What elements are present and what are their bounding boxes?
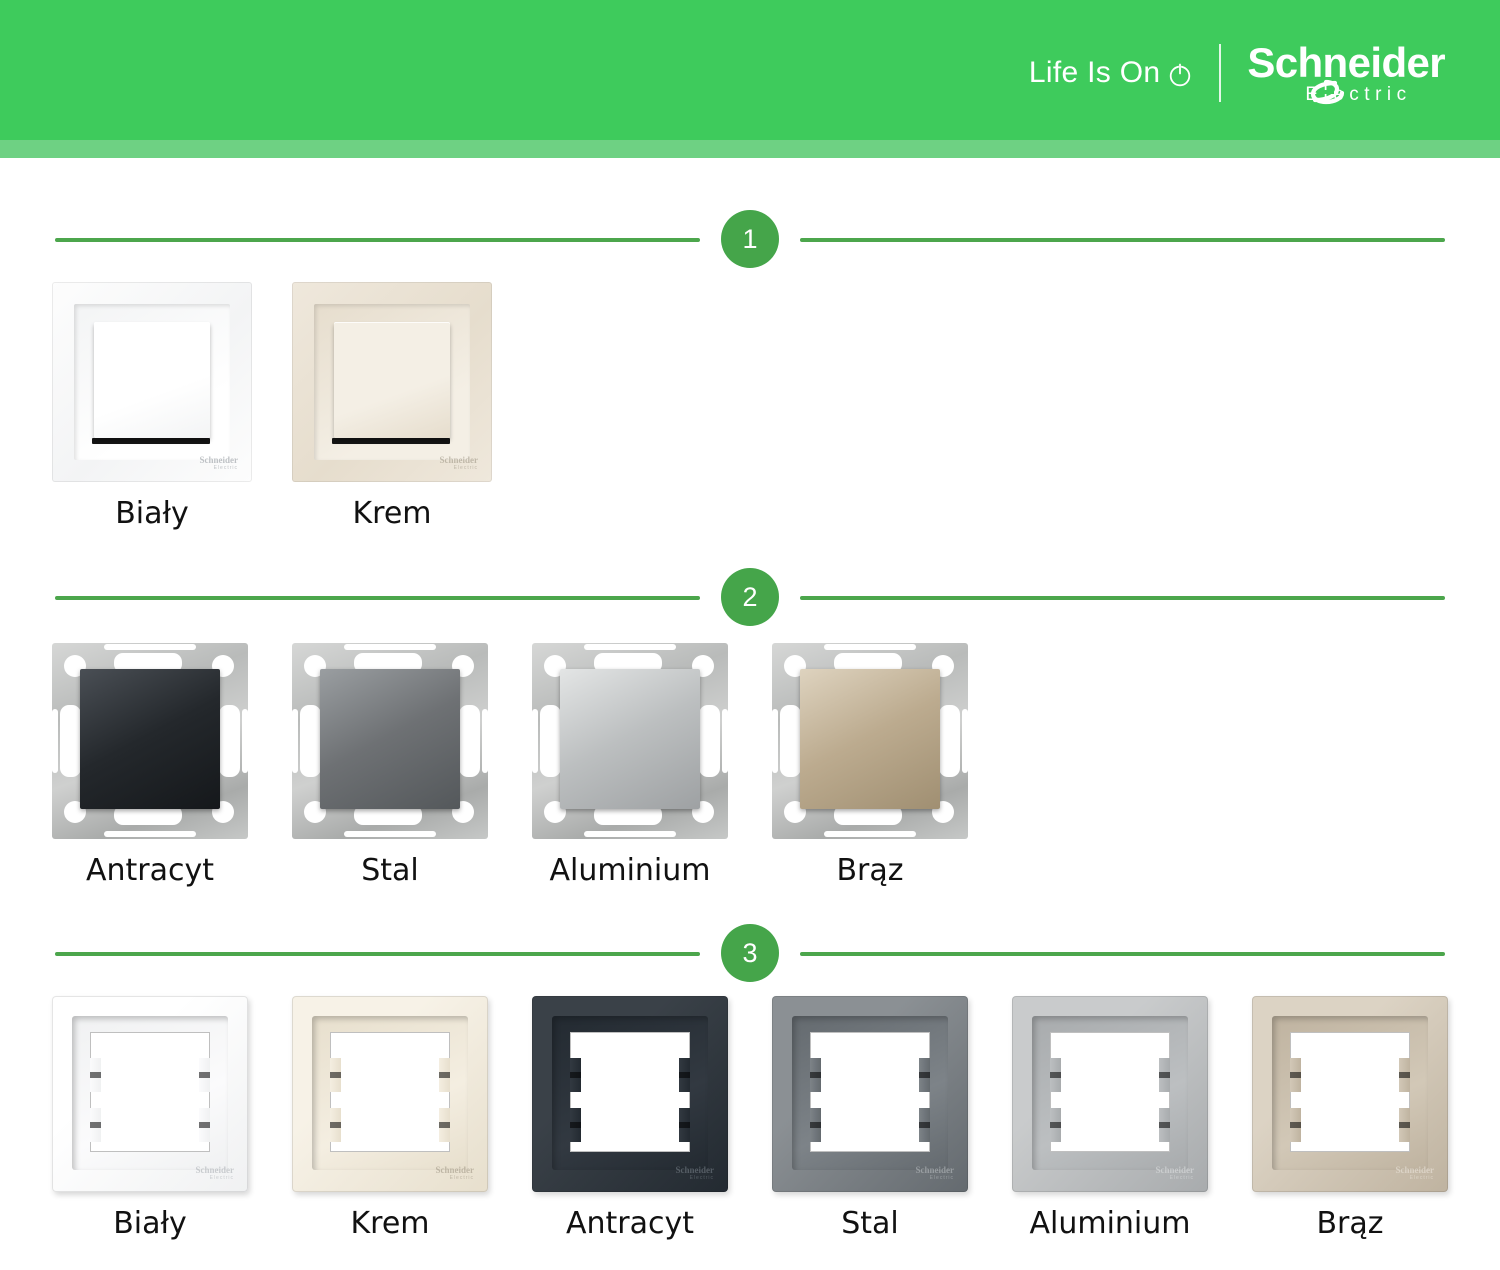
mini-logo-word: Schneider [662, 1166, 714, 1175]
frame-clip-band [1159, 1122, 1170, 1128]
yoke-edge-notch [104, 831, 196, 837]
frame-clip [810, 1058, 821, 1092]
mechanism-graphic[interactable] [772, 643, 968, 839]
mini-logo-word: Schneider [1382, 1166, 1434, 1175]
product-mechanism[interactable]: Brąz [772, 643, 968, 888]
product-cover-frame[interactable]: SchneiderElectricKrem [292, 996, 488, 1241]
frame-clip-band [1399, 1122, 1410, 1128]
page-header: Life Is On Schneider Electric [0, 0, 1500, 140]
frame-outer-bezel: SchneiderElectric [52, 996, 248, 1192]
product-caption: Krem [350, 1206, 429, 1241]
schneider-mini-logo: SchneiderElectric [1382, 1166, 1434, 1184]
mini-logo-word: Schneider [1142, 1166, 1194, 1175]
cover-frame-graphic[interactable]: SchneiderElectric [1012, 996, 1208, 1192]
mini-logo-sub: Electric [1142, 1175, 1194, 1181]
frame-clip-band [810, 1072, 821, 1078]
cover-frame-graphic[interactable]: SchneiderElectric [1252, 996, 1448, 1192]
frame-clip [1399, 1058, 1410, 1092]
frame-clip [919, 1108, 930, 1142]
mini-logo-sub: Electric [186, 465, 238, 471]
yoke-side-notch [242, 709, 248, 773]
brand-name: Schneider [1247, 42, 1445, 84]
rocker-shadow [332, 438, 450, 444]
frame-clip [330, 1058, 341, 1092]
frame-clip [1050, 1108, 1061, 1142]
mechanism-graphic[interactable] [292, 643, 488, 839]
frame-clip-band [1290, 1072, 1301, 1078]
schneider-mini-logo: SchneiderElectric [426, 456, 478, 474]
cover-frame-graphic[interactable]: SchneiderElectric [532, 996, 728, 1192]
product-row-frames: SchneiderElectricBiałySchneiderElectricK… [0, 996, 1500, 1241]
mini-logo-word: Schneider [182, 1166, 234, 1175]
switch-frame: SchneiderElectric [52, 282, 252, 482]
frame-clip [1290, 1058, 1301, 1092]
frame-clip [439, 1108, 450, 1142]
product-caption: Biały [115, 496, 189, 531]
frame-clip-band [1050, 1072, 1061, 1078]
frame-clip-band [810, 1122, 821, 1128]
yoke-side-slot [60, 705, 81, 777]
frame-clip-band [570, 1072, 581, 1078]
frame-clip-band [919, 1072, 930, 1078]
frame-clip [1050, 1058, 1061, 1092]
product-caption: Biały [113, 1206, 187, 1241]
yoke-edge-notch [344, 644, 436, 650]
divider-rule-left [55, 952, 700, 956]
yoke-side-slot [540, 705, 561, 777]
product-caption: Brąz [836, 853, 903, 888]
product-switch[interactable]: SchneiderElectricKrem [292, 282, 492, 531]
schneider-mini-logo: SchneiderElectric [662, 1166, 714, 1184]
frame-clip [810, 1108, 821, 1142]
frame-window [1290, 1032, 1410, 1152]
frame-clip [330, 1108, 341, 1142]
product-cover-frame[interactable]: SchneiderElectricStal [772, 996, 968, 1241]
schneider-mini-logo: SchneiderElectric [902, 1166, 954, 1184]
mini-logo-word: Schneider [186, 456, 238, 465]
frame-outer-bezel: SchneiderElectric [292, 996, 488, 1192]
divider-rule-right [800, 952, 1445, 956]
frame-clip [1399, 1108, 1410, 1142]
yoke-side-notch [772, 709, 778, 773]
schneider-mini-logo: SchneiderElectric [422, 1166, 474, 1184]
frame-clip [199, 1108, 210, 1142]
product-caption: Antracyt [86, 853, 214, 888]
yoke-side-notch [962, 709, 968, 773]
frame-clip-band [439, 1122, 450, 1128]
rocker-paddle[interactable] [94, 322, 210, 438]
frame-clip-band [1159, 1072, 1170, 1078]
frame-clip [1159, 1058, 1170, 1092]
frame-clip-band [1399, 1072, 1410, 1078]
yoke-side-notch [532, 709, 538, 773]
frame-clip [199, 1058, 210, 1092]
divider-rule-right [800, 238, 1445, 242]
brand-lockup: Life Is On Schneider Electric [1029, 40, 1445, 106]
frame-clip-band [570, 1122, 581, 1128]
frame-clip-band [679, 1072, 690, 1078]
divider-rule-left [55, 596, 700, 600]
yoke-edge-notch [584, 644, 676, 650]
tagline: Life Is On [1029, 56, 1219, 90]
frame-clip-band [919, 1122, 930, 1128]
yoke-side-slot [459, 705, 480, 777]
frame-clip-band [679, 1122, 690, 1128]
mechanism-graphic[interactable] [532, 643, 728, 839]
frame-clip [90, 1058, 101, 1092]
mini-logo-sub: Electric [662, 1175, 714, 1181]
schneider-mini-logo: SchneiderElectric [1142, 1166, 1194, 1184]
frame-clip [1290, 1108, 1301, 1142]
divider-rule-left [55, 238, 700, 242]
frame-clip-band [90, 1122, 101, 1128]
yoke-edge-notch [824, 831, 916, 837]
product-cover-frame[interactable]: SchneiderElectricBrąz [1252, 996, 1448, 1241]
section-divider-3: 3 [0, 924, 1500, 984]
section-badge-2: 2 [721, 568, 779, 626]
frame-clip [1159, 1108, 1170, 1142]
yoke-side-slot [699, 705, 720, 777]
cover-frame-graphic[interactable]: SchneiderElectric [52, 996, 248, 1192]
product-mechanism[interactable]: Stal [292, 643, 488, 888]
section-badge-3: 3 [721, 924, 779, 982]
frame-clip [570, 1108, 581, 1142]
frame-outer-bezel: SchneiderElectric [532, 996, 728, 1192]
yoke-edge-notch [104, 644, 196, 650]
schneider-mini-logo: SchneiderElectric [186, 456, 238, 474]
yoke-side-notch [482, 709, 488, 773]
switch-graphic[interactable]: SchneiderElectric [52, 282, 252, 482]
frame-clip-band [199, 1122, 210, 1128]
frame-outer-bezel: SchneiderElectric [772, 996, 968, 1192]
product-caption: Krem [352, 496, 431, 531]
mini-logo-word: Schneider [902, 1166, 954, 1175]
product-caption: Aluminium [1029, 1206, 1190, 1241]
frame-clip-band [90, 1072, 101, 1078]
frame-clip [439, 1058, 450, 1092]
mini-logo-sub: Electric [902, 1175, 954, 1181]
frame-clip [90, 1108, 101, 1142]
mechanism-paddle[interactable] [80, 669, 220, 809]
cover-frame-graphic[interactable]: SchneiderElectric [772, 996, 968, 1192]
frame-clip-band [330, 1122, 341, 1128]
mechanism-paddle[interactable] [320, 669, 460, 809]
section-divider-1: 1 [0, 210, 1500, 270]
frame-clip-band [199, 1072, 210, 1078]
yoke-edge-notch [824, 644, 916, 650]
frame-clip-band [330, 1072, 341, 1078]
frame-outer-bezel: SchneiderElectric [1012, 996, 1208, 1192]
divider-rule-right [800, 596, 1445, 600]
frame-window [330, 1032, 450, 1152]
section-badge-1: 1 [721, 210, 779, 268]
frame-clip [919, 1058, 930, 1092]
product-caption: Aluminium [549, 853, 710, 888]
frame-clip-band [1050, 1122, 1061, 1128]
product-cover-frame[interactable]: SchneiderElectricBiały [52, 996, 248, 1241]
product-switch[interactable]: SchneiderElectricBiały [52, 282, 252, 531]
yoke-side-notch [292, 709, 298, 773]
mini-logo-sub: Electric [182, 1175, 234, 1181]
rocker-paddle[interactable] [334, 322, 450, 438]
yoke-side-slot [300, 705, 321, 777]
frame-clip [570, 1058, 581, 1092]
brand-sub: Electric [1247, 85, 1445, 105]
yoke-side-slot [780, 705, 801, 777]
mini-logo-word: Schneider [426, 456, 478, 465]
product-mechanism[interactable]: Aluminium [532, 643, 728, 888]
frame-clip-band [1290, 1122, 1301, 1128]
yoke-edge-notch [344, 831, 436, 837]
mini-logo-sub: Electric [422, 1175, 474, 1181]
mini-logo-sub: Electric [426, 465, 478, 471]
frame-window [570, 1032, 690, 1152]
yoke-side-slot [219, 705, 240, 777]
mechanism-paddle[interactable] [800, 669, 940, 809]
product-row-mechanisms: AntracytStalAluminiumBrąz [0, 643, 1500, 888]
cover-frame-graphic[interactable]: SchneiderElectric [292, 996, 488, 1192]
frame-window [90, 1032, 210, 1152]
switch-graphic[interactable]: SchneiderElectric [292, 282, 492, 482]
yoke-edge-notch [584, 831, 676, 837]
frame-window [1050, 1032, 1170, 1152]
product-caption: Stal [841, 1206, 899, 1241]
frame-clip [679, 1058, 690, 1092]
product-caption: Stal [361, 853, 419, 888]
frame-outer-bezel: SchneiderElectric [1252, 996, 1448, 1192]
product-caption: Brąz [1316, 1206, 1383, 1241]
section-divider-2: 2 [0, 568, 1500, 628]
mini-logo-sub: Electric [1382, 1175, 1434, 1181]
product-cover-frame[interactable]: SchneiderElectricAluminium [1012, 996, 1208, 1241]
frame-clip-band [439, 1072, 450, 1078]
frame-clip [679, 1108, 690, 1142]
rocker-shadow [92, 438, 210, 444]
product-row-switches: SchneiderElectricBiałySchneiderElectricK… [0, 282, 1500, 531]
schneider-mark-icon [1305, 78, 1345, 106]
frame-window [810, 1032, 930, 1152]
schneider-mini-logo: SchneiderElectric [182, 1166, 234, 1184]
product-cover-frame[interactable]: SchneiderElectricAntracyt [532, 996, 728, 1241]
schneider-logo: Schneider Electric [1221, 42, 1445, 105]
tagline-text: Life Is On [1029, 56, 1160, 90]
yoke-side-slot [939, 705, 960, 777]
power-icon [1167, 62, 1193, 88]
mechanism-graphic[interactable] [52, 643, 248, 839]
header-accent-strip [0, 140, 1500, 158]
yoke-side-notch [722, 709, 728, 773]
switch-frame: SchneiderElectric [292, 282, 492, 482]
product-caption: Antracyt [566, 1206, 694, 1241]
mechanism-paddle[interactable] [560, 669, 700, 809]
mini-logo-word: Schneider [422, 1166, 474, 1175]
product-mechanism[interactable]: Antracyt [52, 643, 248, 888]
yoke-side-notch [52, 709, 58, 773]
